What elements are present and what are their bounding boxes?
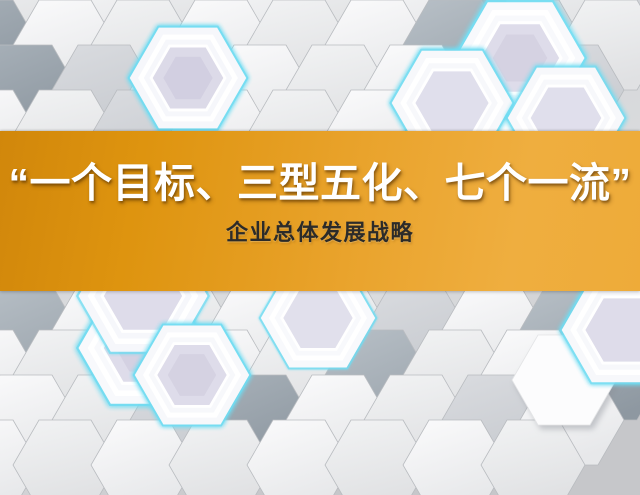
banner-content: “一个目标、三型五化、七个一流” 企业总体发展战略 xyxy=(0,131,640,291)
page-subtitle: 企业总体发展战略 xyxy=(226,220,414,246)
page-title: “一个目标、三型五化、七个一流” xyxy=(9,159,632,207)
title-banner: “一个目标、三型五化、七个一流” 企业总体发展战略 xyxy=(0,131,640,291)
presentation-slide: “一个目标、三型五化、七个一流” 企业总体发展战略 xyxy=(0,0,640,495)
